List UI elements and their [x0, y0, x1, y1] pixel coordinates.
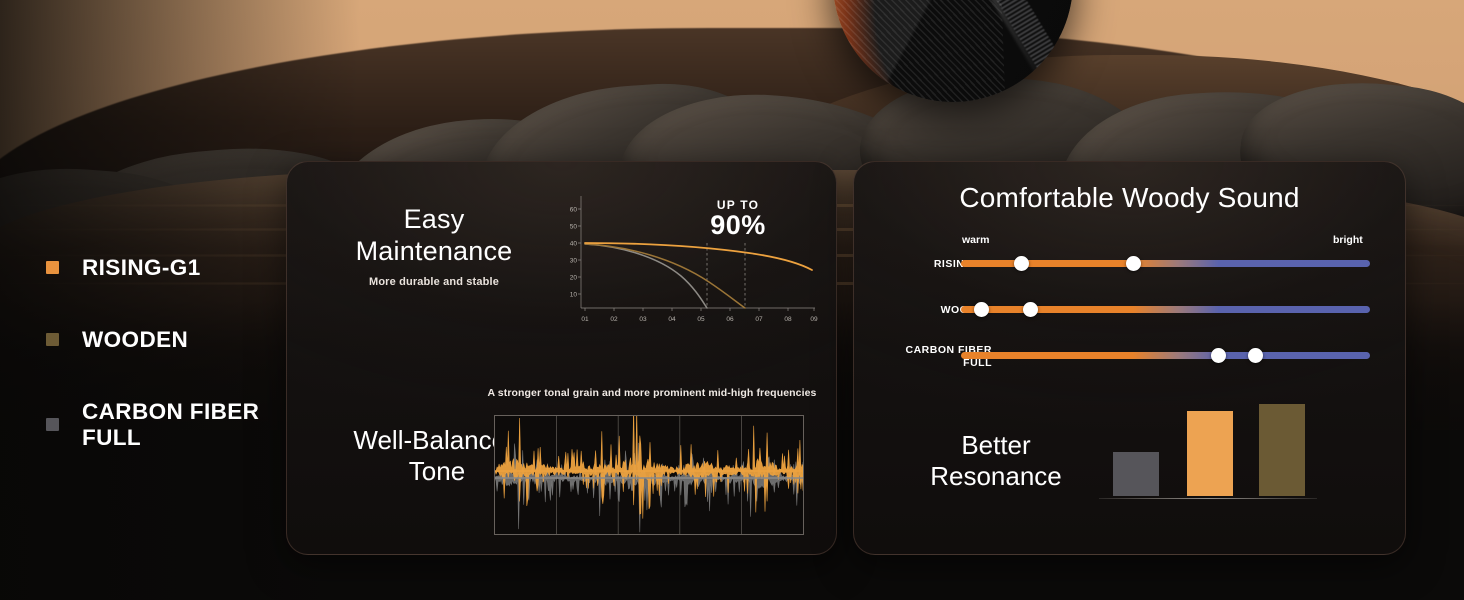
scale-label-bright: bright — [1333, 234, 1363, 246]
bar-carbon-fiber-full — [1113, 452, 1159, 496]
svg-text:08: 08 — [784, 316, 792, 323]
better-resonance-section: Better Resonance — [854, 388, 1405, 528]
up-to-value: 90% — [683, 210, 793, 241]
slider-knob[interactable] — [974, 302, 989, 317]
bars-baseline — [1099, 498, 1317, 499]
carbon-fiber-weave — [833, 0, 1006, 102]
svg-text:60: 60 — [570, 207, 578, 214]
easy-maintenance-title: Easy Maintenance — [301, 204, 567, 267]
slider-knob[interactable] — [1126, 256, 1141, 271]
slider-row-rising-g1[interactable]: RISING-G1 — [854, 252, 1405, 298]
svg-text:07: 07 — [755, 316, 763, 323]
slider-row-carbon-fiber-full[interactable]: CARBON FIBER FULL — [854, 344, 1405, 390]
slider-track[interactable] — [961, 306, 1370, 313]
slider-knob[interactable] — [1023, 302, 1038, 317]
legend-item-label: RISING-G1 — [82, 255, 201, 281]
better-resonance-bars — [1099, 388, 1323, 514]
legend-item-label: CARBON FIBER FULL — [82, 399, 259, 451]
svg-text:05: 05 — [697, 316, 705, 323]
svg-text:01: 01 — [581, 316, 589, 323]
svg-text:10: 10 — [570, 292, 578, 299]
svg-text:03: 03 — [639, 316, 647, 323]
easy-maintenance-text: Easy Maintenance More durable and stable — [301, 204, 567, 288]
svg-text:40: 40 — [570, 241, 578, 248]
tonal-character-sliders: warm bright RISING-G1 WOODEN CARBON FIBE… — [854, 234, 1405, 390]
well-balanced-tone-section: A stronger tonal grain and more prominen… — [287, 367, 836, 537]
legend-item-carbon-fiber-full[interactable]: CARBON FIBER FULL — [46, 399, 286, 451]
svg-text:02: 02 — [610, 316, 618, 323]
legend-swatch-icon — [46, 261, 59, 274]
bar-rising-g1 — [1187, 411, 1233, 496]
slider-track[interactable] — [961, 352, 1370, 359]
better-resonance-title: Better Resonance — [886, 430, 1106, 492]
tone-caption: A stronger tonal grain and more prominen… — [487, 387, 817, 399]
legend-item-wooden[interactable]: WOODEN — [46, 327, 286, 353]
svg-text:20: 20 — [570, 275, 578, 282]
legend-item-rising-g1[interactable]: RISING-G1 — [46, 255, 286, 281]
material-legend: RISING-G1 WOODEN CARBON FIBER FULL — [46, 255, 286, 451]
easy-maintenance-section: Easy Maintenance More durable and stable… — [287, 176, 836, 336]
svg-text:50: 50 — [570, 224, 578, 231]
svg-text:09: 09 — [810, 316, 818, 323]
easy-maintenance-subtitle: More durable and stable — [301, 276, 567, 288]
legend-swatch-icon — [46, 418, 59, 431]
slider-knob[interactable] — [1014, 256, 1029, 271]
slider-knob[interactable] — [1211, 348, 1226, 363]
svg-text:06: 06 — [726, 316, 734, 323]
legend-item-label: WOODEN — [82, 327, 188, 353]
slider-row-wooden[interactable]: WOODEN — [854, 298, 1405, 344]
slider-knob[interactable] — [1248, 348, 1263, 363]
svg-text:04: 04 — [668, 316, 676, 323]
scale-label-warm: warm — [962, 234, 989, 246]
tone-waveform-chart — [494, 415, 804, 535]
legend-swatch-icon — [46, 333, 59, 346]
bar-wooden — [1259, 404, 1305, 496]
slider-track[interactable] — [961, 260, 1370, 267]
comfortable-woody-sound-title: Comfortable Woody Sound — [854, 182, 1405, 214]
left-feature-panel: Easy Maintenance More durable and stable… — [286, 161, 837, 555]
right-feature-panel: Comfortable Woody Sound warm bright RISI… — [853, 161, 1406, 555]
svg-text:30: 30 — [570, 258, 578, 265]
up-to-badge: UP TO 90% — [683, 198, 793, 241]
